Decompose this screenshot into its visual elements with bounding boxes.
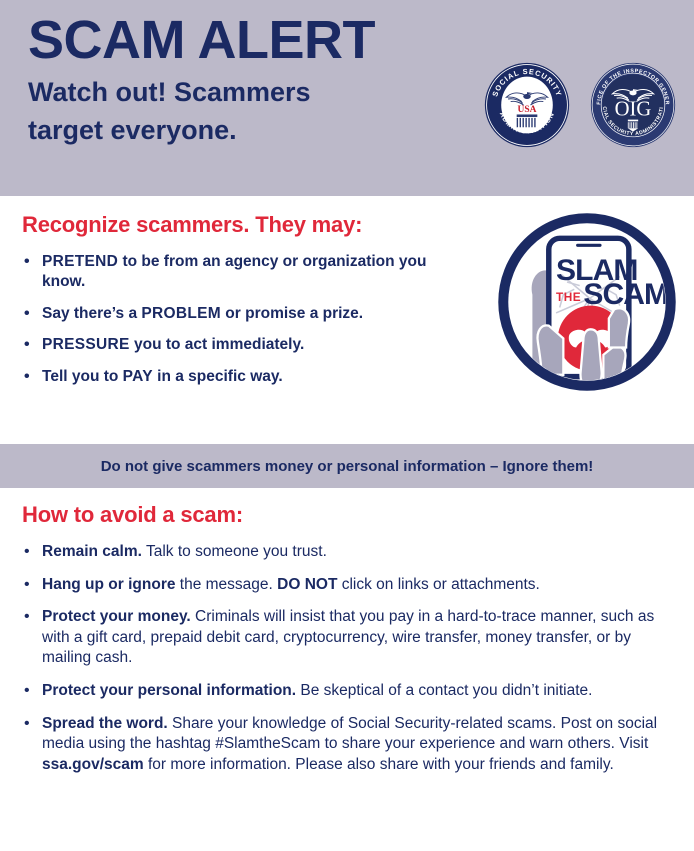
- notice-banner: Do not give scammers money or personal i…: [0, 444, 694, 488]
- ssa-seal: USA SOCIAL SECURITY: [484, 62, 570, 148]
- avoid-item-strong: DO NOT: [277, 576, 337, 593]
- avoid-item-lead: Protect your money.: [42, 608, 191, 625]
- recognize-heading: Recognize scammers. They may:: [22, 212, 472, 238]
- oig-seal: OIG OFFICE OF THE INSPECTOR GENE: [590, 62, 676, 148]
- avoid-section: How to avoid a scam: Remain calm. Talk t…: [0, 488, 694, 775]
- recognize-item-emphasis: PRESSURE: [42, 336, 130, 353]
- agency-seals: USA SOCIAL SECURITY: [484, 62, 676, 148]
- notice-text: Do not give scammers money or personal i…: [101, 458, 594, 475]
- list-item: Remain calm. Talk to someone you trust.: [22, 542, 678, 563]
- recognize-item-text: or promise a prize.: [221, 305, 363, 322]
- avoid-item-lead: Remain calm.: [42, 543, 142, 560]
- list-item: Hang up or ignore the message. DO NOT cl…: [22, 575, 678, 596]
- avoid-item-body-b: click on links or attachments.: [337, 576, 539, 593]
- page-subtitle-line-2: target everyone.: [28, 111, 458, 149]
- svg-text:OIG: OIG: [615, 98, 652, 120]
- svg-text:USA: USA: [518, 105, 537, 115]
- phone-speaker: [576, 244, 601, 247]
- recognize-item-prefix: Tell you to: [42, 368, 123, 385]
- hand-holding-cracked-phone-icon: SLAM THE SCAM: [496, 211, 678, 393]
- list-item: Say there’s a PROBLEM or promise a prize…: [22, 304, 472, 324]
- slam-wordmark-the: THE: [556, 290, 581, 304]
- avoid-heading: How to avoid a scam:: [22, 502, 678, 528]
- avoid-item-lead: Protect your personal information.: [42, 682, 296, 699]
- page-subtitle-line-1: Watch out! Scammers: [28, 73, 458, 111]
- list-item: Spread the word. Share your knowledge of…: [22, 714, 678, 776]
- avoid-item-lead: Hang up or ignore: [42, 576, 175, 593]
- avoid-item-lead: Spread the word.: [42, 715, 168, 732]
- list-item: Tell you to PAY in a specific way.: [22, 367, 472, 387]
- recognize-item-text: in a specific way.: [153, 368, 283, 385]
- list-item: Protect your personal information. Be sk…: [22, 681, 678, 702]
- slam-the-scam-logo: SLAM THE SCAM: [496, 211, 678, 398]
- avoid-item-body-a: the message.: [175, 576, 277, 593]
- recognize-item-emphasis: PAY: [123, 368, 153, 385]
- oig-seal-icon: OIG OFFICE OF THE INSPECTOR GENE: [590, 62, 676, 148]
- list-item: PRESSURE you to act immediately.: [22, 335, 472, 355]
- recognize-content: Recognize scammers. They may: PRETEND to…: [22, 212, 472, 398]
- recognize-item-prefix: Say there’s a: [42, 305, 141, 322]
- recognize-item-emphasis: PROBLEM: [141, 305, 221, 322]
- recognize-item-emphasis: PRETEND: [42, 253, 118, 270]
- ssa-seal-icon: USA SOCIAL SECURITY: [484, 62, 570, 148]
- avoid-list: Remain calm. Talk to someone you trust. …: [22, 542, 678, 775]
- list-item: PRETEND to be from an agency or organiza…: [22, 252, 472, 293]
- recognize-list: PRETEND to be from an agency or organiza…: [22, 252, 472, 387]
- recognize-section: Recognize scammers. They may: PRETEND to…: [0, 196, 694, 444]
- slam-wordmark-line2: SCAM: [583, 278, 668, 311]
- recognize-item-text: you to act immediately.: [130, 336, 305, 353]
- avoid-item-body-b: for more information. Please also share …: [144, 756, 614, 773]
- header-band: SCAM ALERT Watch out! Scammers target ev…: [0, 0, 694, 196]
- header-text-block: SCAM ALERT Watch out! Scammers target ev…: [28, 12, 458, 149]
- avoid-item-body: Be skeptical of a contact you didn’t ini…: [296, 682, 592, 699]
- page-title: SCAM ALERT: [28, 12, 458, 69]
- pointing-finger: [580, 329, 601, 387]
- avoid-item-url: ssa.gov/scam: [42, 756, 144, 773]
- avoid-item-body: Talk to someone you trust.: [142, 543, 327, 560]
- list-item: Protect your money. Criminals will insis…: [22, 607, 678, 669]
